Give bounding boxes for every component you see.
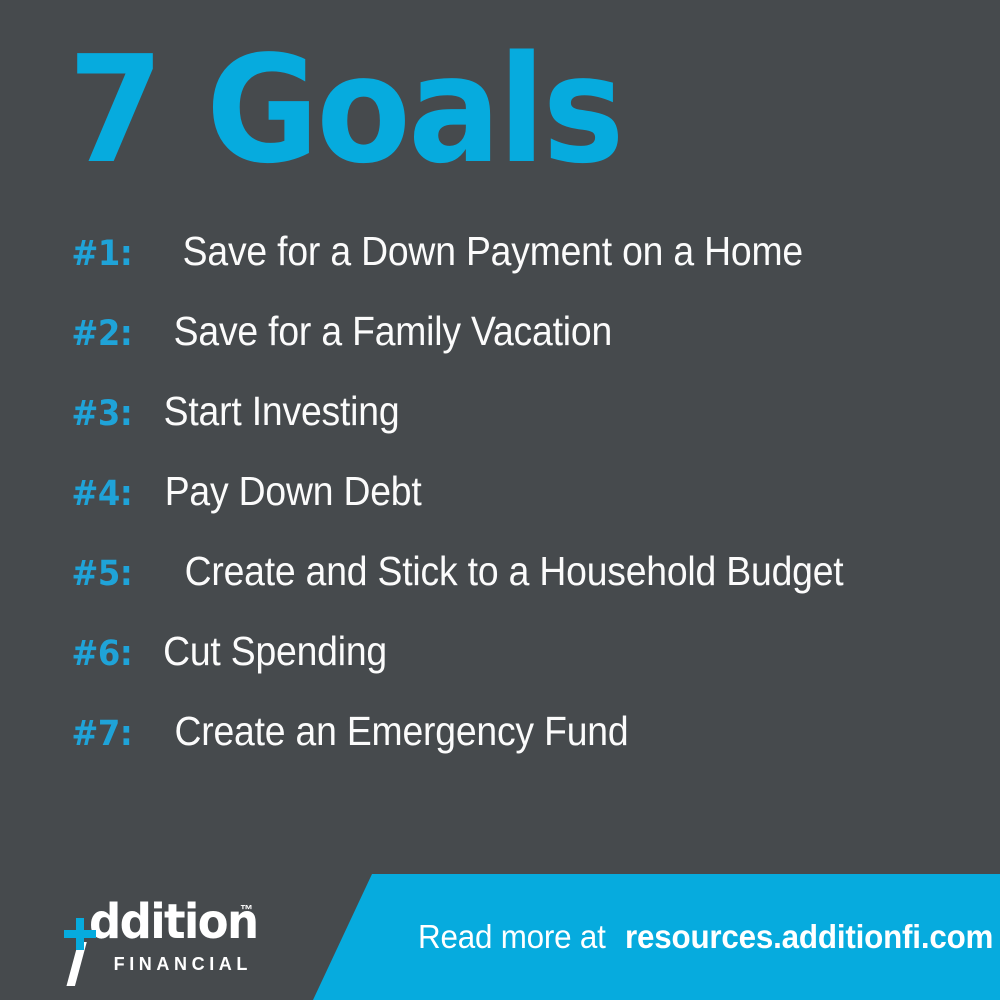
goal-number: #3: (71, 394, 148, 434)
goal-number: #4: (71, 474, 148, 514)
list-item: #5: Create and Stick to a Household Budg… (68, 548, 968, 628)
logo-wordmark: ddition (58, 898, 257, 946)
list-item: #7: Create an Emergency Fund (68, 708, 968, 788)
goal-number: #6: (71, 634, 148, 674)
footer-callout: Read more at resources.additionfi.com (418, 874, 1000, 1000)
goals-list: #1: Save for a Down Payment on a Home #2… (68, 228, 968, 788)
list-item: #2: Save for a Family Vacation (68, 308, 968, 388)
goal-label: Save for a Down Payment on a Home (183, 228, 803, 275)
goal-label: Cut Spending (163, 628, 387, 675)
goal-label: Create and Stick to a Household Budget (185, 548, 844, 595)
list-item: #4: Pay Down Debt (68, 468, 968, 548)
footer-lead-text: Read more at (418, 918, 606, 956)
logo[interactable]: ddition ™ FINANCIAL (58, 898, 258, 978)
infographic-canvas: 7 Goals #1: Save for a Down Payment on a… (0, 0, 1000, 1000)
goal-label: Pay Down Debt (165, 468, 422, 515)
list-item: #6: Cut Spending (68, 628, 968, 708)
goal-label: Start Investing (164, 388, 400, 435)
goal-label: Save for a Family Vacation (174, 308, 612, 355)
goal-number: #1: (71, 234, 148, 274)
goal-label: Create an Emergency Fund (174, 708, 628, 755)
list-item: #3: Start Investing (68, 388, 968, 468)
goal-number: #5: (71, 554, 148, 594)
goal-number: #7: (71, 714, 148, 754)
logo-subtitle: FINANCIAL (114, 954, 252, 975)
footer-url-link[interactable]: resources.additionfi.com (625, 918, 993, 956)
goal-number: #2: (71, 314, 148, 354)
plus-icon-vertical (76, 918, 84, 950)
list-item: #1: Save for a Down Payment on a Home (68, 228, 968, 308)
page-title: 7 Goals (68, 36, 622, 184)
trademark-icon: ™ (240, 902, 253, 917)
logo-word-rest: ddition (89, 894, 257, 950)
